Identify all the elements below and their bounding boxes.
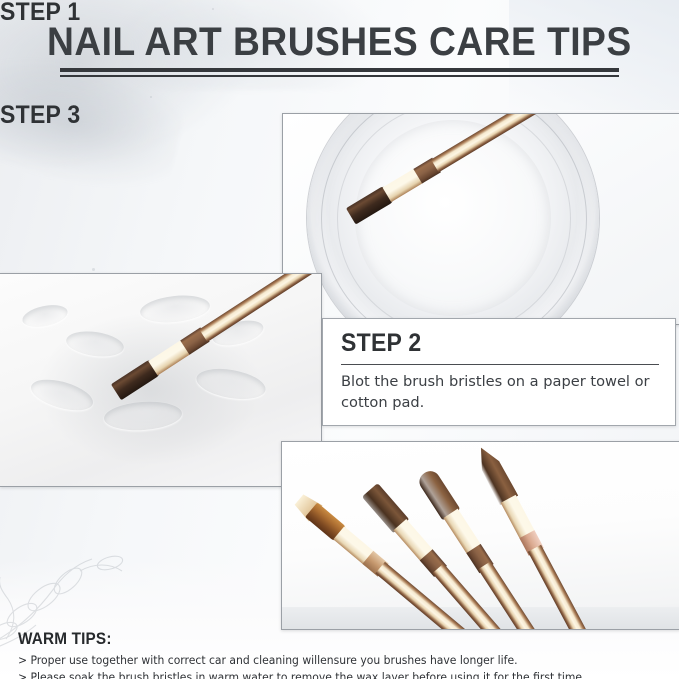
infographic-page: NAIL ART BRUSHES CARE TIPS STEP 1 Pour b… bbox=[0, 0, 679, 679]
page-title-wrap: NAIL ART BRUSHES CARE TIPS bbox=[0, 22, 679, 62]
step-1-label: STEP 1 bbox=[0, 0, 230, 25]
step-3-photo bbox=[281, 441, 679, 630]
title-underline bbox=[60, 68, 619, 77]
step-2-label: STEP 2 bbox=[341, 331, 634, 356]
step-3-label: STEP 3 bbox=[0, 103, 230, 128]
warm-tips-line: > Proper use together with correct car a… bbox=[18, 653, 645, 670]
step-1-photo bbox=[282, 113, 679, 325]
texture-speck bbox=[150, 96, 152, 98]
warm-tips-section: WARM TIPS: > Proper use together with co… bbox=[18, 629, 668, 679]
texture-speck bbox=[92, 268, 95, 271]
step-2-photo bbox=[0, 273, 322, 487]
warm-tips-title: WARM TIPS: bbox=[18, 629, 603, 649]
warm-tips-line: > Please soak the brush bristles in warm… bbox=[18, 670, 645, 679]
page-title: NAIL ART BRUSHES CARE TIPS bbox=[47, 22, 632, 62]
step-2-body: Blot the brush bristles on a paper towel… bbox=[341, 372, 659, 413]
title-rule-thin bbox=[60, 75, 619, 77]
step-2-block: STEP 2 Blot the brush bristles on a pape… bbox=[322, 318, 676, 426]
step-2-rule bbox=[341, 364, 659, 365]
